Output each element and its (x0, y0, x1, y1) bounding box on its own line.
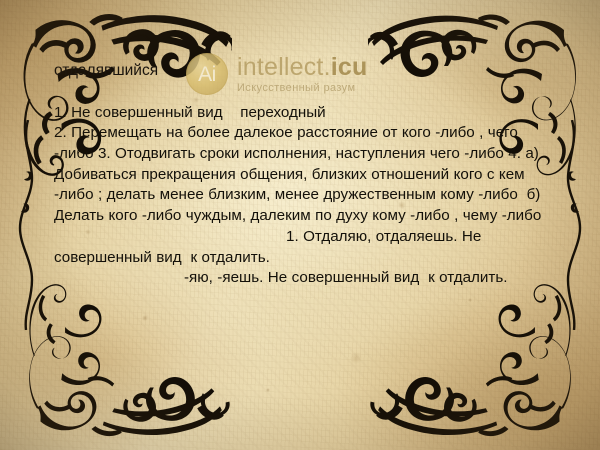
entry-definitions: 1. Не совершенный вид переходный 2. Пере… (54, 103, 554, 227)
entry-headword: отдалявшийся (54, 62, 554, 81)
entry-forms-line-1: 1. Отдаляю, отдаляешь. Не совершенный ви… (54, 228, 486, 266)
entry-content: отдалявшийся 1. Не совершенный вид перех… (54, 62, 554, 289)
entry-forms-block-2: -яю, -яешь. Не совершенный вид к отдалит… (54, 268, 554, 289)
entry-forms-line-2: -яю, -яешь. Не совершенный вид к отдалит… (184, 269, 507, 286)
entry-forms-block-1: 1. Отдаляю, отдаляешь. Не совершенный ви… (54, 227, 554, 268)
dictionary-card: Ai intellect.icu Искусственный разум отд… (0, 0, 600, 450)
